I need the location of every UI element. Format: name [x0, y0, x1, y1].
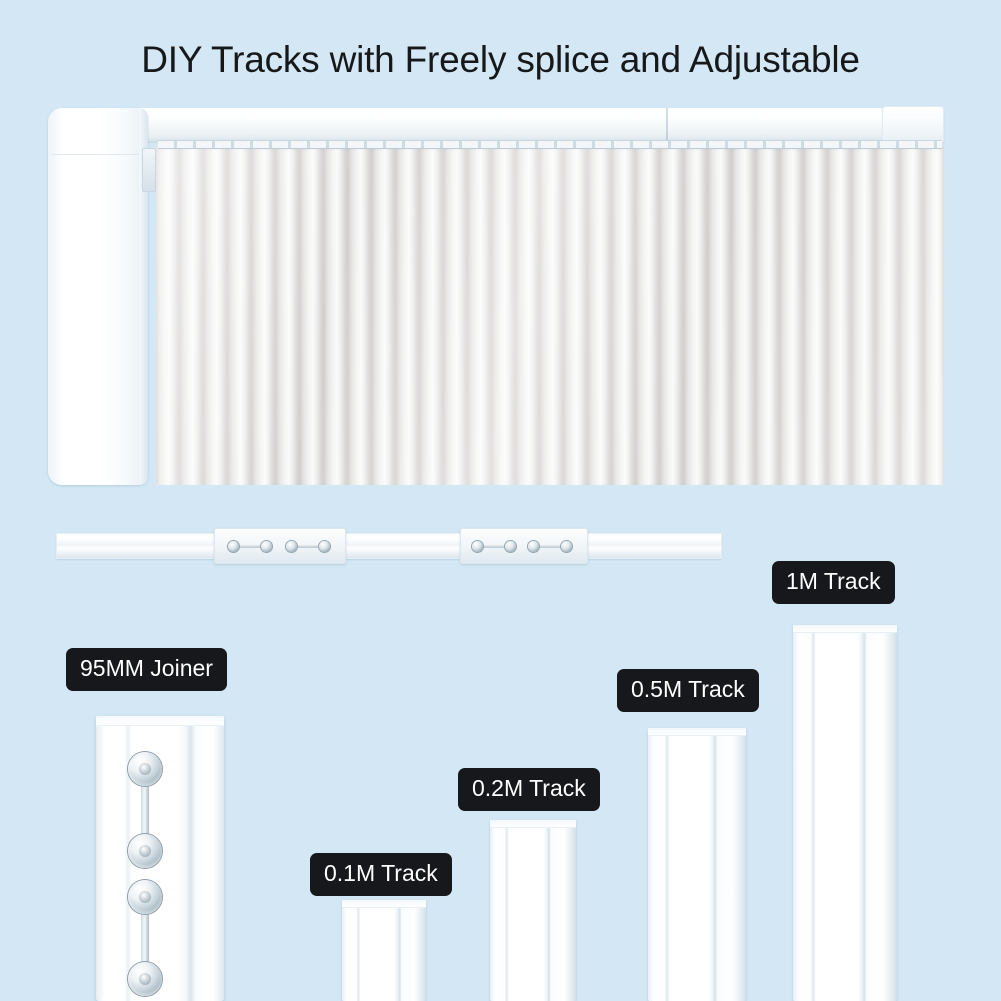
curtain-sheen [156, 146, 944, 485]
joiner-rivet [528, 541, 539, 552]
joiner-rivet-pair [128, 880, 162, 996]
product-image-canvas: DIY Tracks with Freely splice and Adjust… [0, 0, 1001, 1001]
track-0-5m [648, 728, 746, 1001]
joiner-rivet [228, 541, 239, 552]
joiner-rivet [319, 541, 330, 552]
joiner-rivet [505, 541, 516, 552]
joiner-rivet [561, 541, 572, 552]
joiner-rivet [286, 541, 297, 552]
joiner-rivet [128, 752, 162, 786]
track-0-2m [490, 820, 576, 1001]
track-0-1m [342, 900, 426, 1001]
joiner-95mm [96, 716, 224, 1001]
badge-track-0-1m: 0.1M Track [310, 853, 452, 896]
joiner-rivet [128, 962, 162, 996]
pleated-curtain [156, 146, 944, 485]
curtain-glide-strip [158, 140, 942, 149]
joiner-rivet [472, 541, 483, 552]
rail-end-cap [882, 106, 944, 144]
ceiling-track-rail [64, 108, 944, 142]
joiner-rivet [128, 834, 162, 868]
track-joiner [214, 528, 346, 564]
badge-track-1m: 1M Track [772, 561, 895, 604]
curtain-track-hero [46, 100, 962, 485]
track-1m [793, 625, 897, 1001]
joiner-rivet [261, 541, 272, 552]
badge-track-0-5m: 0.5M Track [617, 669, 759, 712]
curtain-stack-panel [48, 108, 148, 485]
page-title: DIY Tracks with Freely splice and Adjust… [0, 38, 1001, 82]
joiner-rivet-pair [128, 752, 162, 868]
badge-joiner-95mm: 95MM Joiner [66, 648, 227, 691]
curtain-carrier-hook [142, 148, 156, 192]
rail-seam [666, 108, 668, 142]
joiner-rivet [128, 880, 162, 914]
spliced-track-assembly [56, 527, 722, 569]
badge-track-0-2m: 0.2M Track [458, 768, 600, 811]
joiner-body [96, 716, 224, 1001]
track-joiner [460, 528, 588, 564]
